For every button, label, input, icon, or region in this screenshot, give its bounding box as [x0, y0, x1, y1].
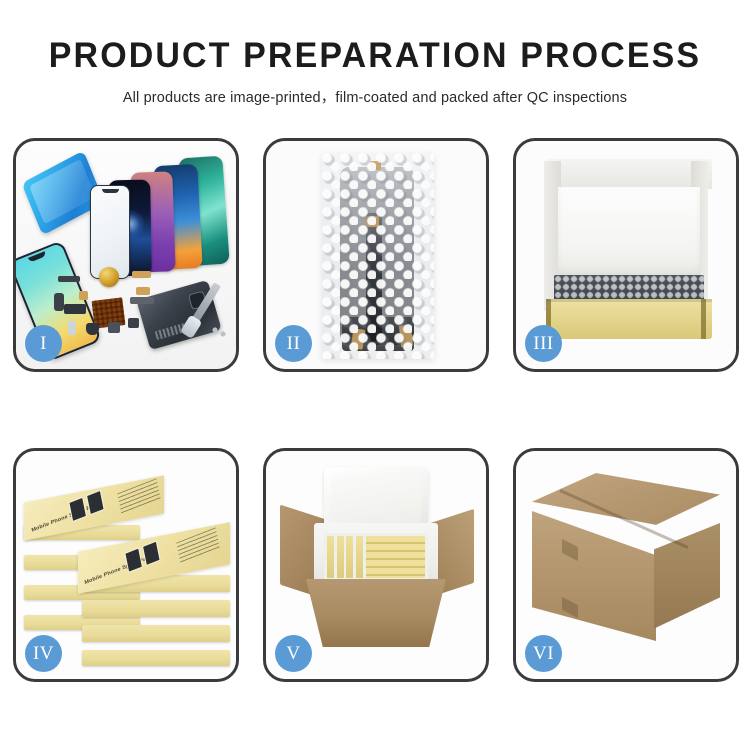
yellow-box-icon: [337, 536, 344, 578]
process-step-grid: I II: [13, 138, 737, 682]
box-label-images: [68, 490, 104, 522]
yellow-box-row-right: [366, 536, 426, 578]
foam-sheet-icon: [558, 187, 700, 275]
part-icon: [136, 287, 150, 295]
bubble-wrap-layer-icon: [554, 275, 704, 301]
stacked-box: [82, 600, 230, 617]
carton-front-face: [532, 511, 656, 641]
yellow-box-icon: [327, 536, 334, 578]
screws-icon: [212, 327, 226, 337]
box-label-images: [124, 541, 160, 573]
box-label-spec-lines: [176, 527, 219, 563]
sealed-carton-icon: [532, 473, 720, 649]
step-panel-1: I: [13, 138, 239, 372]
part-icon: [58, 276, 80, 282]
yellow-box-row-left: [327, 536, 363, 578]
step-badge-5: V: [275, 635, 312, 672]
part-icon: [64, 304, 86, 314]
box-label-spec-lines: [117, 478, 160, 514]
step-panel-3: III: [513, 138, 739, 372]
step-badge-1: I: [25, 325, 62, 362]
step-badge-4: IV: [25, 635, 62, 672]
foam-lid-icon: [324, 467, 428, 529]
step-panel-2: II: [263, 138, 489, 372]
yellow-box-icon: [346, 536, 353, 578]
box-lid-icon: [546, 159, 712, 189]
stacked-box: [82, 625, 230, 642]
step-badge-2: II: [275, 325, 312, 362]
page-subtitle: All products are image-printed，film-coat…: [0, 86, 750, 107]
header: PRODUCT PREPARATION PROCESS All products…: [0, 0, 750, 107]
page-title: PRODUCT PREPARATION PROCESS: [11, 38, 739, 75]
step-panel-4: Mobile Phone Spare Parts Mobile Phone Sp…: [13, 448, 239, 682]
step-panel-5: V: [263, 448, 489, 682]
part-icon: [128, 318, 139, 328]
product-preparation-infographic: PRODUCT PREPARATION PROCESS All products…: [0, 0, 750, 750]
step-badge-6: VI: [525, 635, 562, 672]
part-icon: [54, 293, 64, 311]
label-phone-image-icon: [142, 541, 161, 567]
yellow-box-base-icon: [546, 299, 712, 339]
part-icon: [108, 322, 120, 333]
part-icon: [79, 291, 88, 300]
stacked-box: [82, 650, 230, 666]
phone-fan-group: [90, 155, 235, 280]
box-edge-right-icon: [701, 299, 706, 339]
part-icon: [130, 297, 154, 304]
label-phone-image-icon: [124, 547, 143, 573]
carton-body-icon: [306, 579, 446, 647]
phone-notch-icon: [102, 189, 119, 193]
label-phone-image-icon: [68, 497, 87, 523]
carton-side-face: [654, 523, 720, 643]
part-icon: [68, 321, 76, 335]
label-phone-image-icon: [86, 490, 105, 516]
step-badge-3: III: [525, 325, 562, 362]
yellow-box-icon: [356, 536, 363, 578]
gold-component-icon: [99, 267, 119, 287]
step-panel-6: VI: [513, 448, 739, 682]
screen-glass-icon: [90, 185, 130, 279]
bubble-wrap-bag-icon: [322, 153, 434, 359]
part-icon: [86, 323, 99, 335]
foam-cavity: [324, 533, 428, 581]
bubble-texture-icon: [322, 153, 434, 359]
part-icon: [132, 271, 151, 278]
